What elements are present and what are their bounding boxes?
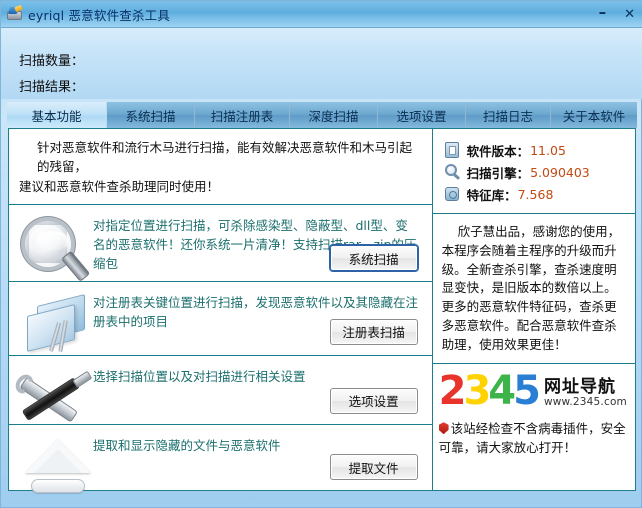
- version-info-box: 软件版本： 11.05 扫描引擎： 5.090403 特征库： 7.568: [433, 129, 635, 214]
- database-label: 特征库：: [467, 185, 517, 204]
- app-window: eyriql 恶意软件查杀工具 – ✕ 扫描数量： 扫描结果： 基本功能 系统扫…: [0, 0, 642, 508]
- logo-url: www.2345.com: [544, 396, 627, 408]
- tab-deep-scan[interactable]: 深度扫描: [290, 102, 378, 128]
- logo-digit-4: 4: [488, 372, 513, 410]
- title-bar: eyriql 恶意软件查杀工具 – ✕: [1, 1, 642, 28]
- tab-about[interactable]: 关于本软件: [551, 102, 637, 128]
- tab-basic-functions[interactable]: 基本功能: [7, 102, 107, 128]
- logo-title-cn: 网址导航: [544, 378, 627, 397]
- version-row-database: 特征库： 7.568: [443, 183, 627, 205]
- registry-scan-button[interactable]: 注册表扫描: [330, 319, 418, 345]
- 2345-logo[interactable]: 2 3 4 5 网址导航 www.2345.com: [439, 372, 627, 410]
- promo-safety-note: 该站经检查不含病毒插件，安全可靠，请大家放心打开！: [439, 420, 627, 458]
- feature-row-registry-scan: 对注册表关键位置进行扫描，发现恶意软件以及其隐藏在注册表中的项目 注册表扫描: [9, 282, 432, 356]
- promo-panel: 2 3 4 5 网址导航 www.2345.com 该站经检查不含病毒插件，安全…: [433, 364, 635, 490]
- intro-line-1: 针对恶意软件和流行木马进行扫描，能有效解决恶意软件和木马引起的残留，: [19, 138, 422, 177]
- version-value: 11.05: [530, 143, 566, 158]
- feature-description: 提取和显示隐藏的文件与恶意软件: [93, 431, 424, 456]
- window-controls: – ✕: [599, 7, 642, 22]
- content-panel: 针对恶意软件和流行木马进行扫描，能有效解决恶意软件和木马引起的残留， 建议和恶意…: [8, 128, 636, 491]
- tab-scan-log[interactable]: 扫描日志: [466, 102, 551, 128]
- logo-digit-3: 3: [463, 372, 488, 410]
- promo-note-text: 该站经检查不含病毒插件，安全可靠，请大家放心打开！: [439, 421, 626, 455]
- version-label: 软件版本：: [467, 141, 530, 160]
- extract-files-button[interactable]: 提取文件: [330, 454, 418, 480]
- eject-extract-icon: [15, 431, 93, 484]
- tab-registry-scan[interactable]: 扫描注册表: [195, 102, 290, 128]
- close-icon[interactable]: ✕: [624, 8, 635, 21]
- database-value: 7.568: [518, 187, 554, 202]
- options-button[interactable]: 选项设置: [330, 388, 418, 414]
- version-row-software: 软件版本： 11.05: [443, 139, 627, 161]
- intro-text: 针对恶意软件和流行木马进行扫描，能有效解决恶意软件和木马引起的残留， 建议和恶意…: [9, 129, 432, 205]
- tab-system-scan[interactable]: 系统扫描: [107, 102, 195, 128]
- feature-row-extract-files: 提取和显示隐藏的文件与恶意软件 提取文件: [9, 425, 432, 490]
- scan-result-label: 扫描结果：: [19, 76, 84, 95]
- app-shield-icon: [6, 6, 24, 22]
- about-description-text: 欣子慧出品，感谢您的使用，本程序会随着主程序的升级而升级。全新查杀引擎，查杀速度…: [442, 224, 621, 352]
- system-scan-button[interactable]: 系统扫描: [330, 245, 418, 271]
- logo-digit-5: 5: [513, 372, 538, 410]
- scan-count-label: 扫描数量：: [19, 50, 84, 69]
- feature-row-system-scan: 对指定位置进行扫描，可杀除感染型、隐蔽型、dll型、变名的恶意软件！还你系统一片…: [9, 205, 432, 282]
- engine-label: 扫描引擎：: [467, 163, 530, 182]
- minimize-icon[interactable]: –: [599, 5, 607, 20]
- info-sidebar: 软件版本： 11.05 扫描引擎： 5.090403 特征库： 7.568 欣子…: [433, 129, 635, 490]
- shield-safety-icon: [439, 422, 449, 434]
- tab-bar: 基本功能 系统扫描 扫描注册表 深度扫描 选项设置 扫描日志 关于本软件: [7, 102, 637, 128]
- about-description: 欣子慧出品，感谢您的使用，本程序会随着主程序的升级而升级。全新查杀引擎，查杀速度…: [433, 214, 635, 364]
- intro-line-2: 建议和恶意软件查杀助理同时使用！: [19, 177, 422, 196]
- features-pane: 针对恶意软件和流行木马进行扫描，能有效解决恶意软件和木马引起的残留， 建议和恶意…: [9, 129, 433, 490]
- database-icon: [443, 185, 461, 203]
- feature-row-options: 选择扫描位置以及对扫描进行相关设置 选项设置: [9, 356, 432, 425]
- scan-status-header: 扫描数量： 扫描结果：: [1, 28, 642, 99]
- logo-digit-2: 2: [439, 372, 464, 410]
- engine-value: 5.090403: [530, 165, 590, 180]
- clipboard-icon: [443, 141, 461, 159]
- magnifier-icon: [15, 211, 93, 275]
- tab-options[interactable]: 选项设置: [378, 102, 466, 128]
- window-title: eyriql 恶意软件查杀工具: [28, 5, 170, 24]
- tools-icon: [15, 362, 93, 418]
- version-row-engine: 扫描引擎： 5.090403: [443, 161, 627, 183]
- registry-documents-icon: [15, 288, 93, 349]
- magnifier-small-icon: [443, 163, 461, 181]
- feature-description: 选择扫描位置以及对扫描进行相关设置: [93, 362, 424, 387]
